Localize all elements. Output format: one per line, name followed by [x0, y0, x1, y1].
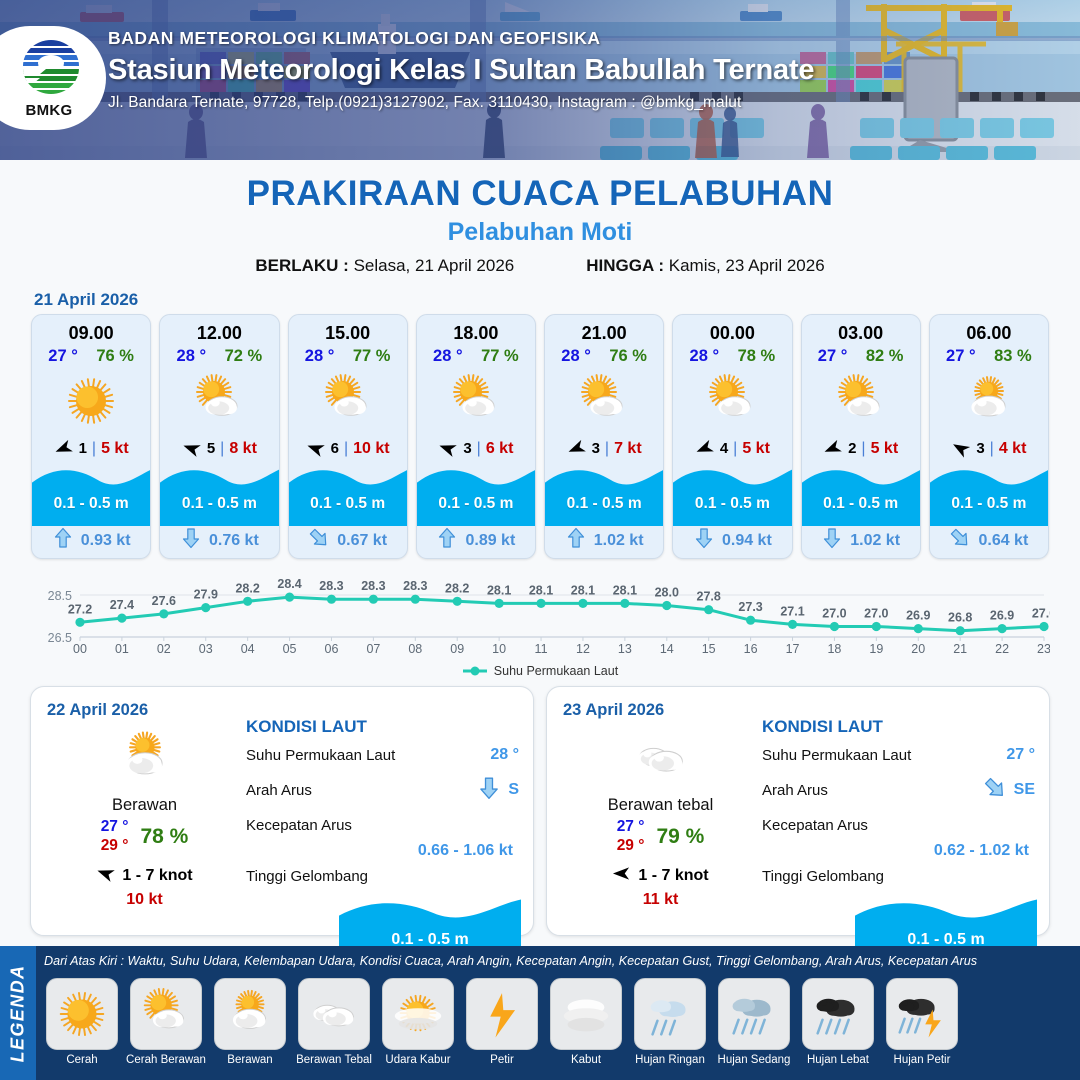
- svg-text:28.4: 28.4: [277, 577, 301, 591]
- current-direction-arrow-icon: [52, 527, 74, 554]
- current-direction-row: Arah Arus SE: [762, 776, 1035, 804]
- card-gust: 5 kt: [871, 440, 899, 458]
- sst-row: Suhu Permukaan Laut 28 °: [246, 745, 519, 765]
- card-wind: 6 | 10 kt: [289, 435, 407, 462]
- chart-legend-marker-icon: [462, 665, 488, 677]
- weather-icon-petir: [466, 978, 538, 1050]
- svg-text:26.9: 26.9: [990, 609, 1014, 623]
- wind-direction-arrow-icon: [438, 439, 458, 459]
- card-temp-humidity: 27 ° 82 %: [802, 344, 920, 366]
- svg-text:28.1: 28.1: [529, 583, 553, 597]
- card-gust: 5 kt: [101, 440, 129, 458]
- svg-text:28.5: 28.5: [48, 589, 72, 603]
- card-current-speed: 0.67 kt: [337, 532, 387, 550]
- svg-text:06: 06: [325, 642, 339, 656]
- card-temp-humidity: 27 ° 76 %: [32, 344, 150, 366]
- current-direction-label: Arah Arus: [246, 782, 312, 799]
- wind-separator: |: [344, 440, 348, 458]
- current-direction-arrow-icon: [180, 527, 202, 554]
- card-humidity: 83 %: [994, 347, 1032, 366]
- valid-from: BERLAKU : Selasa, 21 April 2026: [255, 256, 514, 276]
- card-humidity: 82 %: [866, 347, 904, 366]
- card-time: 00.00: [673, 315, 791, 344]
- current-direction-arrow-icon: [477, 776, 501, 804]
- validity-period: BERLAKU : Selasa, 21 April 2026 HINGGA :…: [0, 256, 1080, 276]
- card-temperature: 28 °: [305, 347, 335, 366]
- current-direction-label: Arah Arus: [762, 782, 828, 799]
- card-temperature: 27 °: [818, 347, 848, 366]
- sst-chart-svg: 28.526.500010203040506070809101112131415…: [30, 567, 1050, 659]
- valid-to: HINGGA : Kamis, 23 April 2026: [586, 256, 824, 276]
- svg-text:28.1: 28.1: [571, 583, 595, 597]
- svg-text:27.0: 27.0: [864, 607, 888, 621]
- wind-separator: |: [477, 440, 481, 458]
- current-direction-arrow-icon: [821, 527, 843, 554]
- daily-temp-min: 27 °: [617, 818, 645, 837]
- current-direction-value: SE: [1014, 781, 1035, 799]
- card-temp-humidity: 28 ° 72 %: [160, 344, 278, 366]
- weather-icon-hujan-sedang: [718, 978, 790, 1050]
- current-direction-value-group: S: [477, 776, 519, 804]
- current-direction-row: Arah Arus S: [246, 776, 519, 804]
- svg-text:11: 11: [535, 642, 548, 656]
- card-current-speed: 0.64 kt: [978, 532, 1028, 550]
- wind-direction-arrow-icon: [823, 439, 843, 459]
- card-current-speed: 0.93 kt: [81, 532, 131, 550]
- card-wave-value: 0.1 - 0.5 m: [802, 495, 920, 513]
- hourly-card[interactable]: 21.00 28 ° 76 % 3 | 7 kt 0.1 - 0.5 m: [544, 314, 664, 559]
- card-current-speed: 1.02 kt: [850, 532, 900, 550]
- wind-separator: |: [220, 440, 224, 458]
- sea-conditions-title: KONDISI LAUT: [246, 717, 519, 737]
- daily-min-max: 27 ° 29 °: [617, 818, 645, 856]
- legend-item-label: Hujan Sedang: [714, 1054, 794, 1066]
- card-temperature: 28 °: [433, 347, 463, 366]
- svg-text:03: 03: [199, 642, 213, 656]
- svg-text:28.3: 28.3: [361, 579, 385, 593]
- card-wave-height: 0.1 - 0.5 m: [673, 464, 791, 524]
- svg-text:00: 00: [73, 642, 87, 656]
- card-wave-height: 0.1 - 0.5 m: [930, 464, 1048, 524]
- legend-item[interactable]: Udara Kabur: [378, 978, 458, 1066]
- weather-icon-cerah-berawan: [802, 366, 920, 435]
- current-direction-arrow-icon: [949, 527, 971, 554]
- wave-height-label: Tinggi Gelombang: [246, 868, 368, 885]
- svg-text:04: 04: [241, 642, 255, 656]
- weather-icon-berawan: [214, 978, 286, 1050]
- daily-wind: 1 - 7 knot: [47, 864, 242, 888]
- daily-summary: Berawan tebal 27 ° 29 ° 79 % 1 - 7 knot …: [563, 722, 758, 909]
- svg-text:08: 08: [408, 642, 422, 656]
- card-temp-humidity: 28 ° 76 %: [545, 344, 663, 366]
- card-humidity: 78 %: [738, 347, 776, 366]
- legend-item[interactable]: Hujan Petir: [882, 978, 962, 1066]
- current-speed-row: Kecepatan Arus: [762, 815, 1035, 835]
- current-direction-arrow-icon: [693, 527, 715, 554]
- daily-condition: Berawan: [47, 796, 242, 815]
- weather-icon-hujan-ringan: [634, 978, 706, 1050]
- svg-text:12: 12: [576, 642, 590, 656]
- current-direction-arrow-icon: [436, 527, 458, 554]
- card-current: 0.93 kt: [32, 523, 150, 558]
- card-wave-value: 0.1 - 0.5 m: [545, 495, 663, 513]
- title-block: PRAKIRAAN CUACA PELABUHAN Pelabuhan Moti…: [0, 160, 1080, 276]
- weather-icon-hujan-petir: [886, 978, 958, 1050]
- svg-text:28.1: 28.1: [613, 583, 637, 597]
- weather-icon-kabut: [550, 978, 622, 1050]
- legend-item-label: Petir: [462, 1054, 542, 1066]
- svg-text:16: 16: [744, 642, 758, 656]
- sea-conditions-title: KONDISI LAUT: [762, 717, 1035, 737]
- legend-item[interactable]: Hujan Sedang: [714, 978, 794, 1066]
- daily-min-max: 27 ° 29 °: [101, 818, 129, 856]
- legend-item[interactable]: Kabut: [546, 978, 626, 1066]
- card-gust: 4 kt: [999, 440, 1027, 458]
- daily-gust: 10 kt: [47, 891, 242, 909]
- card-wind-speed: 3: [592, 440, 600, 457]
- legend-bar: LEGENDA Dari Atas Kiri : Waktu, Suhu Uda…: [0, 946, 1080, 1080]
- svg-text:27.8: 27.8: [697, 590, 721, 604]
- card-current: 0.64 kt: [930, 523, 1048, 558]
- card-wind-speed: 1: [79, 440, 87, 457]
- daily-summary: Berawan 27 ° 29 ° 78 % 1 - 7 knot 10 kt: [47, 722, 242, 909]
- page-header: BMKG BADAN METEOROLOGI KLIMATOLOGI DAN G…: [0, 0, 1080, 160]
- agency-name: BADAN METEOROLOGI KLIMATOLOGI DAN GEOFIS…: [108, 28, 814, 49]
- card-time: 15.00: [289, 315, 407, 344]
- card-humidity: 72 %: [225, 347, 263, 366]
- svg-text:21: 21: [953, 642, 967, 656]
- card-humidity: 77 %: [353, 347, 391, 366]
- card-current: 0.76 kt: [160, 523, 278, 558]
- svg-text:15: 15: [702, 642, 716, 656]
- legend-item[interactable]: Berawan Tebal: [294, 978, 374, 1066]
- current-speed-label: Kecepatan Arus: [246, 817, 352, 834]
- card-current: 0.67 kt: [289, 523, 407, 558]
- svg-text:27.1: 27.1: [780, 604, 804, 618]
- card-time: 06.00: [930, 315, 1048, 344]
- svg-text:26.9: 26.9: [906, 609, 930, 623]
- legend-item-label: Hujan Petir: [882, 1054, 962, 1066]
- daily-temp-humidity: 27 ° 29 ° 79 %: [563, 818, 758, 856]
- chart-legend: Suhu Permukaan Laut: [0, 664, 1080, 678]
- card-time: 03.00: [802, 315, 920, 344]
- legend-item[interactable]: Berawan: [210, 978, 290, 1066]
- weather-icon-cerah-berawan: [417, 366, 535, 435]
- wind-direction-arrow-icon: [54, 439, 74, 459]
- daily-condition: Berawan tebal: [563, 796, 758, 815]
- daily-temp-humidity: 27 ° 29 ° 78 %: [47, 818, 242, 856]
- hourly-card[interactable]: 12.00 28 ° 72 % 5 | 8 kt 0.1 - 0.5 m: [159, 314, 279, 559]
- card-current-speed: 0.89 kt: [465, 532, 515, 550]
- card-humidity: 77 %: [481, 347, 519, 366]
- svg-text:27.0: 27.0: [1032, 607, 1050, 621]
- hourly-card[interactable]: 15.00 28 ° 77 % 6 | 10 kt 0.1 - 0.5 m: [288, 314, 408, 559]
- wind-direction-arrow-icon: [306, 439, 326, 459]
- card-gust: 5 kt: [742, 440, 770, 458]
- card-wind-speed: 5: [207, 440, 215, 457]
- wave-height-label: Tinggi Gelombang: [762, 868, 884, 885]
- card-temp-humidity: 28 ° 78 %: [673, 344, 791, 366]
- legend-item-label: Hujan Ringan: [630, 1054, 710, 1066]
- card-wind-speed: 3: [976, 440, 984, 457]
- legend-item[interactable]: Cerah Berawan: [126, 978, 206, 1066]
- weather-icon-berawan: [930, 366, 1048, 435]
- page-title: PRAKIRAAN CUACA PELABUHAN: [0, 174, 1080, 214]
- card-time: 18.00: [417, 315, 535, 344]
- legend-item-label: Kabut: [546, 1054, 626, 1066]
- card-temperature: 28 °: [690, 347, 720, 366]
- card-wind-speed: 3: [463, 440, 471, 457]
- legend-item-label: Cerah Berawan: [126, 1054, 206, 1066]
- svg-text:27.6: 27.6: [152, 594, 176, 608]
- station-name: Stasiun Meteorologi Kelas I Sultan Babul…: [108, 54, 814, 87]
- card-current-speed: 1.02 kt: [594, 532, 644, 550]
- sst-chart: 28.526.500010203040506070809101112131415…: [30, 567, 1050, 659]
- card-wind-speed: 6: [331, 440, 339, 457]
- card-wave-value: 0.1 - 0.5 m: [930, 495, 1048, 513]
- card-current: 0.94 kt: [673, 523, 791, 558]
- card-wave-height: 0.1 - 0.5 m: [32, 464, 150, 524]
- daily-wind: 1 - 7 knot: [563, 864, 758, 888]
- svg-text:18: 18: [827, 642, 841, 656]
- card-wave-height: 0.1 - 0.5 m: [545, 464, 663, 524]
- sst-row: Suhu Permukaan Laut 27 °: [762, 745, 1035, 765]
- card-wind-speed: 2: [848, 440, 856, 457]
- card-wind: 3 | 4 kt: [930, 435, 1048, 462]
- card-humidity: 76 %: [609, 347, 647, 366]
- sst-label: Suhu Permukaan Laut: [246, 747, 395, 764]
- svg-text:28.3: 28.3: [319, 579, 343, 593]
- svg-text:27.3: 27.3: [738, 600, 762, 614]
- legend-item-label: Udara Kabur: [378, 1054, 458, 1066]
- card-current: 0.89 kt: [417, 523, 535, 558]
- sst-label: Suhu Permukaan Laut: [762, 747, 911, 764]
- current-direction-value: S: [508, 781, 519, 799]
- svg-text:27.0: 27.0: [822, 607, 846, 621]
- hourly-date-label: 21 April 2026: [34, 290, 1080, 310]
- current-direction-arrow-icon: [983, 776, 1007, 804]
- bmkg-emblem-icon: [20, 38, 82, 96]
- valid-from-value: Selasa, 21 April 2026: [354, 256, 515, 275]
- svg-text:28.1: 28.1: [487, 583, 511, 597]
- card-time: 12.00: [160, 315, 278, 344]
- card-gust: 10 kt: [353, 440, 389, 458]
- valid-to-label: HINGGA :: [586, 256, 664, 275]
- hourly-card[interactable]: 03.00 27 ° 82 % 2 | 5 kt 0.1 - 0.5 m: [801, 314, 921, 559]
- weather-icon-berawan-tebal: [563, 722, 758, 794]
- card-wave-height: 0.1 - 0.5 m: [417, 464, 535, 524]
- legend-item[interactable]: Cerah: [42, 978, 122, 1066]
- wind-separator: |: [861, 440, 865, 458]
- card-temperature: 27 °: [946, 347, 976, 366]
- legend-item-row: Cerah Cerah Berawan Berawan: [42, 978, 1074, 1066]
- card-temp-humidity: 27 ° 83 %: [930, 344, 1048, 366]
- svg-text:05: 05: [283, 642, 297, 656]
- svg-text:27.2: 27.2: [68, 602, 92, 616]
- hourly-forecast-row: 09.00 27 ° 76 % 1 | 5 kt 0.1 - 0.5 m 0.9…: [0, 314, 1080, 559]
- card-time: 21.00: [545, 315, 663, 344]
- wind-separator: |: [733, 440, 737, 458]
- legend-item-label: Berawan: [210, 1054, 290, 1066]
- svg-text:26.8: 26.8: [948, 611, 972, 625]
- card-temp-humidity: 28 ° 77 %: [417, 344, 535, 366]
- wave-height-row: Tinggi Gelombang: [246, 866, 519, 886]
- daily-temp-min: 27 °: [101, 818, 129, 837]
- bmkg-logo-text: BMKG: [20, 102, 78, 119]
- card-gust: 6 kt: [486, 440, 514, 458]
- card-temperature: 28 °: [561, 347, 591, 366]
- card-wind: 3 | 6 kt: [417, 435, 535, 462]
- svg-text:10: 10: [492, 642, 506, 656]
- svg-text:14: 14: [660, 642, 674, 656]
- card-current-speed: 0.94 kt: [722, 532, 772, 550]
- svg-text:02: 02: [157, 642, 171, 656]
- card-temp-humidity: 28 ° 77 %: [289, 344, 407, 366]
- sea-conditions: KONDISI LAUT Suhu Permukaan Laut 28 ° Ar…: [246, 717, 519, 897]
- legend-item-label: Hujan Lebat: [798, 1054, 878, 1066]
- current-direction-value-group: SE: [983, 776, 1035, 804]
- svg-text:19: 19: [869, 642, 883, 656]
- legend-note: Dari Atas Kiri : Waktu, Suhu Udara, Kele…: [44, 954, 1076, 968]
- valid-from-label: BERLAKU :: [255, 256, 349, 275]
- hourly-card[interactable]: 18.00 28 ° 77 % 3 | 6 kt 0.1 - 0.5 m: [416, 314, 536, 559]
- weather-icon-cerah-berawan: [130, 978, 202, 1050]
- bmkg-logo: BMKG: [0, 26, 106, 130]
- weather-icon-cerah-berawan: [673, 366, 791, 435]
- card-gust: 7 kt: [614, 440, 642, 458]
- weather-icon-cerah: [32, 366, 150, 435]
- svg-text:20: 20: [911, 642, 925, 656]
- daily-forecast-card[interactable]: 23 April 2026 Berawan tebal 27 ° 29 ° 79…: [546, 686, 1050, 936]
- svg-text:26.5: 26.5: [48, 631, 72, 645]
- valid-to-value: Kamis, 23 April 2026: [669, 256, 825, 275]
- legend-side-label: LEGENDA: [0, 946, 36, 1080]
- station-address: Jl. Bandara Ternate, 97728, Telp.(0921)3…: [108, 94, 814, 112]
- hourly-card[interactable]: 00.00 28 ° 78 % 4 | 5 kt 0.1 - 0.5 m: [672, 314, 792, 559]
- weather-icon-cerah: [46, 978, 118, 1050]
- svg-text:28.2: 28.2: [235, 581, 259, 595]
- daily-temp-max: 29 °: [101, 837, 129, 856]
- svg-text:13: 13: [618, 642, 632, 656]
- weather-icon-cerah-berawan: [289, 366, 407, 435]
- svg-text:22: 22: [995, 642, 1009, 656]
- card-wave-value: 0.1 - 0.5 m: [417, 495, 535, 513]
- daily-temp-max: 29 °: [617, 837, 645, 856]
- svg-text:23: 23: [1037, 642, 1050, 656]
- wind-direction-arrow-icon: [182, 439, 202, 459]
- daily-forecast-card[interactable]: 22 April 2026 Berawan 27 ° 29 ° 78 %: [30, 686, 534, 936]
- current-direction-arrow-icon: [565, 527, 587, 554]
- weather-icon-berawan-tebal: [298, 978, 370, 1050]
- wind-separator: |: [92, 440, 96, 458]
- wind-direction-arrow-icon: [567, 439, 587, 459]
- wind-direction-arrow-icon: [695, 439, 715, 459]
- card-wind: 5 | 8 kt: [160, 435, 278, 462]
- svg-text:27.9: 27.9: [194, 588, 218, 602]
- daily-wind-range: 1 - 7 knot: [122, 867, 192, 885]
- legend-item-label: Cerah: [42, 1054, 122, 1066]
- hourly-card[interactable]: 09.00 27 ° 76 % 1 | 5 kt 0.1 - 0.5 m 0.9…: [31, 314, 151, 559]
- current-speed-value: 0.62 - 1.02 kt: [762, 842, 1035, 860]
- card-time: 09.00: [32, 315, 150, 344]
- weather-icon-cerah-berawan: [545, 366, 663, 435]
- daily-wind-range: 1 - 7 knot: [638, 867, 708, 885]
- current-direction-arrow-icon: [308, 527, 330, 554]
- legend-item[interactable]: Hujan Lebat: [798, 978, 878, 1066]
- svg-text:27.4: 27.4: [110, 598, 134, 612]
- wind-direction-arrow-icon: [612, 864, 631, 888]
- wind-separator: |: [990, 440, 994, 458]
- card-gust: 8 kt: [229, 440, 257, 458]
- svg-text:09: 09: [450, 642, 464, 656]
- wind-direction-arrow-icon: [951, 439, 971, 459]
- weather-icon-berawan: [47, 722, 242, 794]
- card-wind-speed: 4: [720, 440, 728, 457]
- card-wave-value: 0.1 - 0.5 m: [673, 495, 791, 513]
- card-current: 1.02 kt: [802, 523, 920, 558]
- page-subtitle: Pelabuhan Moti: [0, 218, 1080, 247]
- legend-item[interactable]: Hujan Ringan: [630, 978, 710, 1066]
- wind-separator: |: [605, 440, 609, 458]
- card-wave-height: 0.1 - 0.5 m: [802, 464, 920, 524]
- daily-forecast-row: 22 April 2026 Berawan 27 ° 29 ° 78 %: [0, 678, 1080, 936]
- card-temperature: 28 °: [177, 347, 207, 366]
- current-speed-label: Kecepatan Arus: [762, 817, 868, 834]
- sst-value: 28 °: [490, 746, 519, 764]
- chart-legend-label: Suhu Permukaan Laut: [494, 664, 618, 678]
- svg-text:28.0: 28.0: [655, 586, 679, 600]
- card-wind: 2 | 5 kt: [802, 435, 920, 462]
- weather-icon-cerah-berawan: [160, 366, 278, 435]
- card-current-speed: 0.76 kt: [209, 532, 259, 550]
- wind-direction-arrow-icon: [96, 864, 115, 888]
- daily-gust: 11 kt: [563, 891, 758, 909]
- card-current: 1.02 kt: [545, 523, 663, 558]
- svg-text:17: 17: [786, 642, 800, 656]
- card-humidity: 76 %: [96, 347, 134, 366]
- current-speed-value: 0.66 - 1.06 kt: [246, 842, 519, 860]
- sst-value: 27 °: [1006, 746, 1035, 764]
- card-wind: 3 | 7 kt: [545, 435, 663, 462]
- card-wind: 1 | 5 kt: [32, 435, 150, 462]
- card-wind: 4 | 5 kt: [673, 435, 791, 462]
- daily-humidity: 78 %: [140, 825, 188, 849]
- wave-height-row: Tinggi Gelombang: [762, 866, 1035, 886]
- card-wave-height: 0.1 - 0.5 m: [289, 464, 407, 524]
- sea-conditions: KONDISI LAUT Suhu Permukaan Laut 27 ° Ar…: [762, 717, 1035, 897]
- legend-item-label: Berawan Tebal: [294, 1054, 374, 1066]
- card-wave-value: 0.1 - 0.5 m: [32, 495, 150, 513]
- daily-humidity: 79 %: [656, 825, 704, 849]
- card-wave-height: 0.1 - 0.5 m: [160, 464, 278, 524]
- card-wave-value: 0.1 - 0.5 m: [160, 495, 278, 513]
- card-temperature: 27 °: [48, 347, 78, 366]
- current-speed-row: Kecepatan Arus: [246, 815, 519, 835]
- legend-item[interactable]: Petir: [462, 978, 542, 1066]
- card-wave-value: 0.1 - 0.5 m: [289, 495, 407, 513]
- svg-text:07: 07: [366, 642, 380, 656]
- hourly-card[interactable]: 06.00 27 ° 83 % 3 | 4 kt 0.1 - 0.5 m: [929, 314, 1049, 559]
- weather-icon-udara-kabur: [382, 978, 454, 1050]
- svg-text:28.2: 28.2: [445, 581, 469, 595]
- weather-icon-hujan-lebat: [802, 978, 874, 1050]
- svg-text:01: 01: [115, 642, 129, 656]
- svg-text:28.3: 28.3: [403, 579, 427, 593]
